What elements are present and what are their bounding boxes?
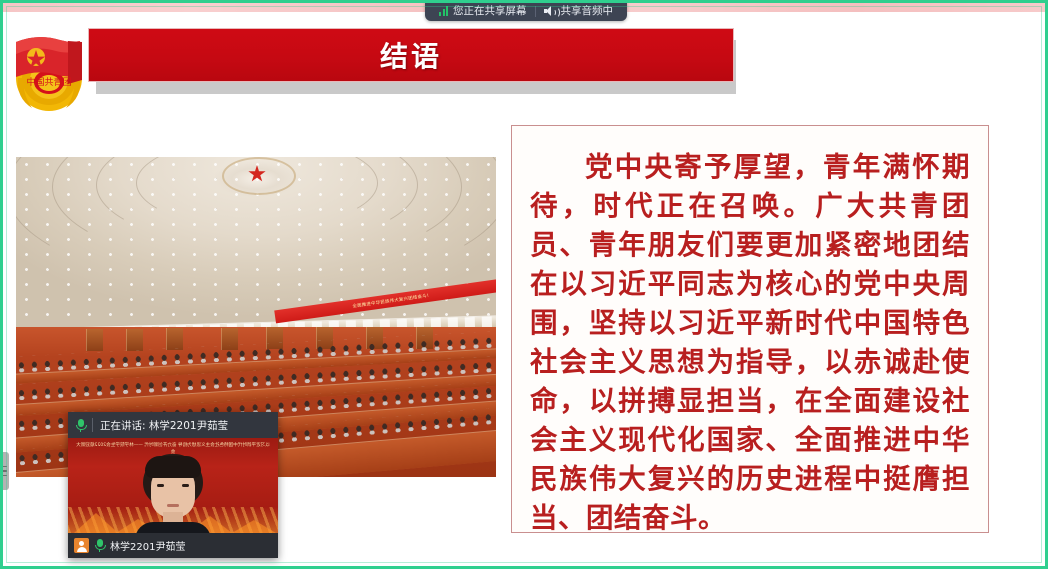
slide-title-bar: 结语 [88,28,734,82]
communist-youth-league-emblem-icon: 中国共青团 [6,22,92,114]
quote-text: 党中央寄予厚望，青年满怀期待，时代正在召唤。广大共青团员、青年朋友们要更加紧密地… [530,148,970,538]
participant-name-label: 林学2201尹茹莹 [110,538,185,553]
participant-avatar-video [131,454,215,533]
signal-bars-icon [439,6,448,16]
screen-share-toolbar[interactable]: 您正在共享屏幕 共享音频中 [425,1,627,21]
panel-collapse-handle[interactable] [0,452,9,490]
microphone-icon [76,419,85,432]
toolbar-divider [535,6,536,17]
sharing-audio-status[interactable]: 共享音频中 [539,1,619,21]
page-title: 结语 [380,35,442,75]
sharing-screen-label: 您正在共享屏幕 [453,6,527,17]
sharing-screen-status[interactable]: 您正在共享屏幕 [434,1,532,21]
speaker-icon [544,6,556,16]
microphone-icon [95,539,104,552]
divider [92,418,93,432]
svg-text:中国共青团: 中国共青团 [26,76,71,88]
video-feed: 以习近平新时代中国特色社会主义思想为指导 奋力开创新时代 ——林学院学生会202… [68,438,278,533]
participant-name-bar: 林学2201尹茹莹 [68,533,278,558]
sharing-audio-label: 共享音频中 [561,6,614,17]
active-speaker-bar: 正在讲话: 林学2201尹茹莹 [68,412,278,438]
participant-video-tile[interactable]: 正在讲话: 林学2201尹茹莹 以习近平新时代中国特色社会主义思想为指导 奋力开… [68,412,278,558]
user-avatar-icon [74,538,89,553]
active-speaker-label: 正在讲话: 林学2201尹茹莹 [100,418,228,433]
quote-panel: 党中央寄予厚望，青年满怀期待，时代正在召唤。广大共青团员、青年朋友们要更加紧密地… [511,125,989,533]
